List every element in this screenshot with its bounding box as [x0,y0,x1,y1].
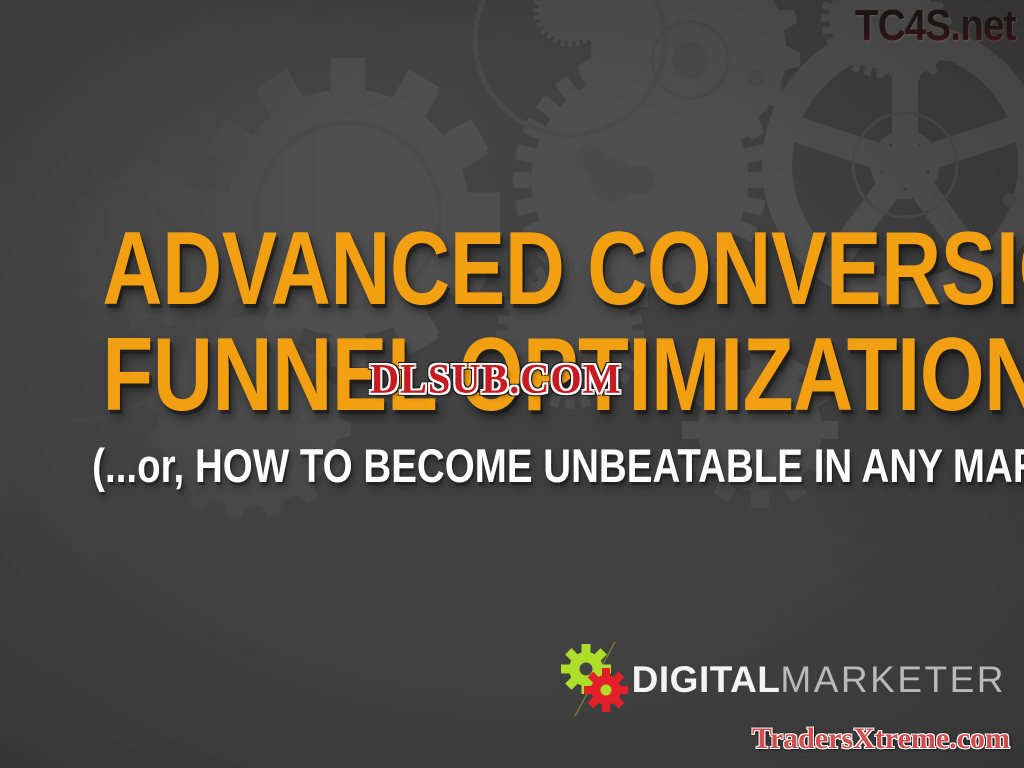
digitalmarketer-logo: DIGITALMARKETER [558,642,1006,716]
brand-word-marketer: MARKETER [780,659,1006,700]
tc4s-watermark: TC4S.net [855,2,1016,50]
gears-icon [558,642,636,716]
brand-word-digital: DIGITAL [632,659,781,700]
slide-title-line-1: ADVANCED CONVERSION [102,220,921,320]
brand-wordmark: DIGITALMARKETER [632,661,1006,698]
dlsub-watermark: DLSUB.COM [370,359,622,401]
presentation-slide: ADVANCED CONVERSION FUNNEL OPTIMIZATION … [0,0,1024,768]
slide-subtitle: (...or, HOW TO BECOME UNBEATABLE IN ANY … [92,442,932,489]
headline-block: ADVANCED CONVERSION FUNNEL OPTIMIZATION … [0,220,1024,489]
tradersxtreme-watermark: TradersXtreme.com [752,724,1010,754]
